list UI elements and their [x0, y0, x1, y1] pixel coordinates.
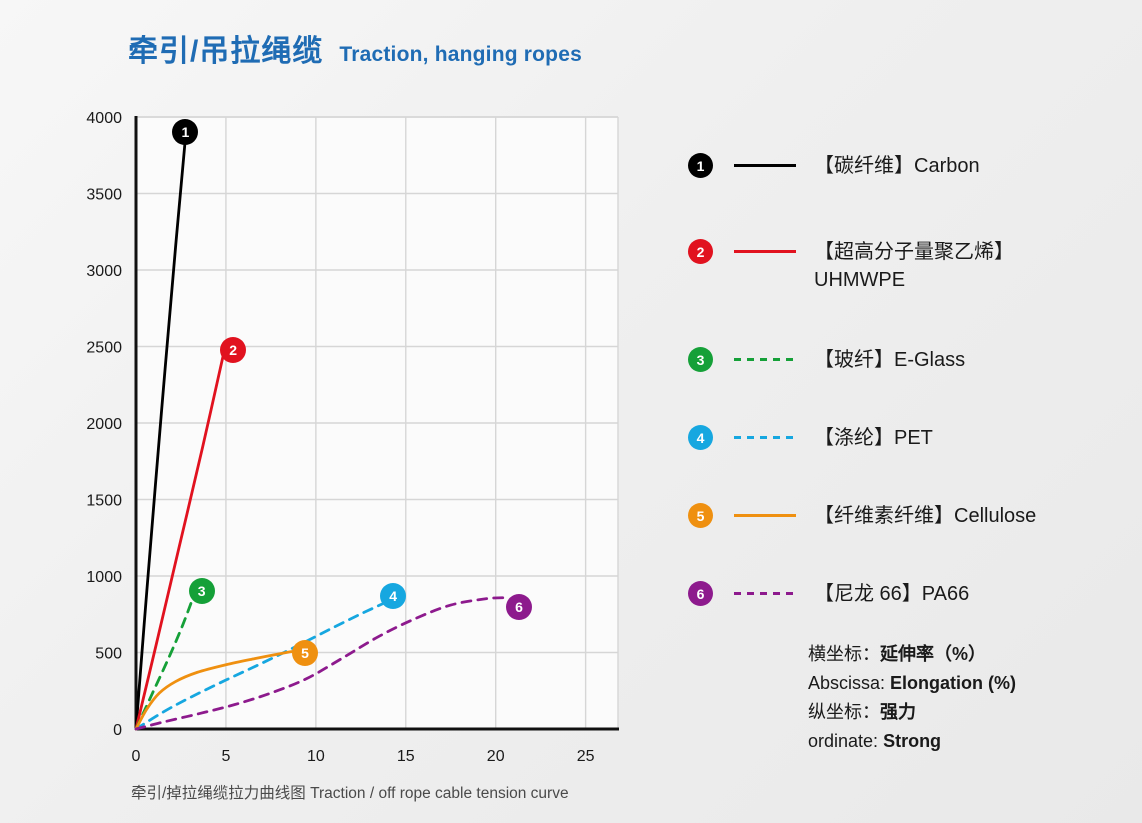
- y-axis-tick-label: 3500: [86, 187, 122, 204]
- y-axis-tick-label: 4000: [86, 110, 122, 127]
- y-axis-tick-label: 2500: [86, 340, 122, 357]
- legend-line-swatch-5: [734, 514, 796, 517]
- y-axis-tick-label: 1500: [86, 493, 122, 510]
- legend-item-1[interactable]: 1【碳纤维】Carbon: [688, 152, 980, 180]
- legend-item-4[interactable]: 4【涤纶】PET: [688, 424, 933, 452]
- legend-badge-4: 4: [688, 425, 713, 450]
- x-axis-tick-label: 0: [132, 748, 141, 765]
- y-axis-tick-label: 3000: [86, 263, 122, 280]
- abscissa-cn-value: 延伸率（%）: [880, 644, 986, 664]
- legend-label-2: 【超高分子量聚乙烯】 UHMWPE: [814, 238, 1014, 295]
- legend-line-swatch-6: [734, 592, 796, 595]
- axis-desc-line-3: 纵坐标：强力: [808, 698, 1016, 727]
- x-axis-tick-label: 25: [577, 748, 595, 765]
- axis-desc-line-4: ordinate: Strong: [808, 727, 1016, 756]
- legend-badge-6: 6: [688, 581, 713, 606]
- legend-item-3[interactable]: 3【玻纤】E-Glass: [688, 346, 965, 374]
- legend-label-5: 【纤维素纤维】Cellulose: [814, 502, 1036, 530]
- x-axis-tick-label: 5: [221, 748, 230, 765]
- series-marker-badge-4: 4: [380, 583, 406, 609]
- y-axis-tick-label: 2000: [86, 416, 122, 433]
- axis-desc-line-2: Abscissa: Elongation (%): [808, 669, 1016, 698]
- legend-badge-2: 2: [688, 239, 713, 264]
- axis-description: 横坐标：延伸率（%） Abscissa: Elongation (%) 纵坐标：…: [808, 640, 1016, 757]
- chart-page: 牵引/吊拉绳缆 Traction, hanging ropes 05001000…: [0, 0, 1142, 823]
- chart-plot: 0500100015002000250030003500400005101520…: [0, 0, 680, 823]
- chart-caption: 牵引/掉拉绳缆拉力曲线图 Traction / off rope cable t…: [131, 781, 569, 803]
- x-axis-tick-label: 15: [397, 748, 415, 765]
- legend-line-swatch-2: [734, 250, 796, 253]
- chart-panel: 0500100015002000250030003500400005101520…: [0, 0, 680, 823]
- legend-item-2[interactable]: 2【超高分子量聚乙烯】 UHMWPE: [688, 238, 1014, 295]
- x-axis-tick-label: 10: [307, 748, 325, 765]
- ordinate-en-prefix: ordinate:: [808, 731, 883, 751]
- y-axis-tick-label: 1000: [86, 569, 122, 586]
- legend-item-6[interactable]: 6【尼龙 66】PA66: [688, 580, 969, 608]
- ordinate-cn-prefix: 纵坐标：: [808, 702, 880, 722]
- abscissa-en-prefix: Abscissa:: [808, 673, 890, 693]
- series-marker-badge-2: 2: [220, 337, 246, 363]
- legend-label-1: 【碳纤维】Carbon: [814, 152, 980, 180]
- ordinate-en-value: Strong: [883, 731, 941, 751]
- x-axis-tick-label: 20: [487, 748, 505, 765]
- y-axis-tick-label: 500: [95, 646, 122, 663]
- legend-badge-3: 3: [688, 347, 713, 372]
- legend-label-6: 【尼龙 66】PA66: [814, 580, 969, 608]
- legend-item-5[interactable]: 5【纤维素纤维】Cellulose: [688, 502, 1036, 530]
- legend-line-swatch-4: [734, 436, 796, 439]
- legend-label-4: 【涤纶】PET: [814, 424, 933, 452]
- ordinate-cn-value: 强力: [880, 702, 916, 722]
- axis-desc-line-1: 横坐标：延伸率（%）: [808, 640, 1016, 669]
- legend-line-swatch-3: [734, 358, 796, 361]
- legend-badge-1: 1: [688, 153, 713, 178]
- abscissa-cn-prefix: 横坐标：: [808, 644, 880, 664]
- legend-badge-5: 5: [688, 503, 713, 528]
- abscissa-en-value: Elongation (%): [890, 673, 1016, 693]
- legend-line-swatch-1: [734, 164, 796, 167]
- y-axis-tick-label: 0: [113, 722, 122, 739]
- series-marker-badge-3: 3: [189, 578, 215, 604]
- series-marker-badge-6: 6: [506, 594, 532, 620]
- legend-label-3: 【玻纤】E-Glass: [814, 346, 965, 374]
- series-marker-badge-5: 5: [292, 640, 318, 666]
